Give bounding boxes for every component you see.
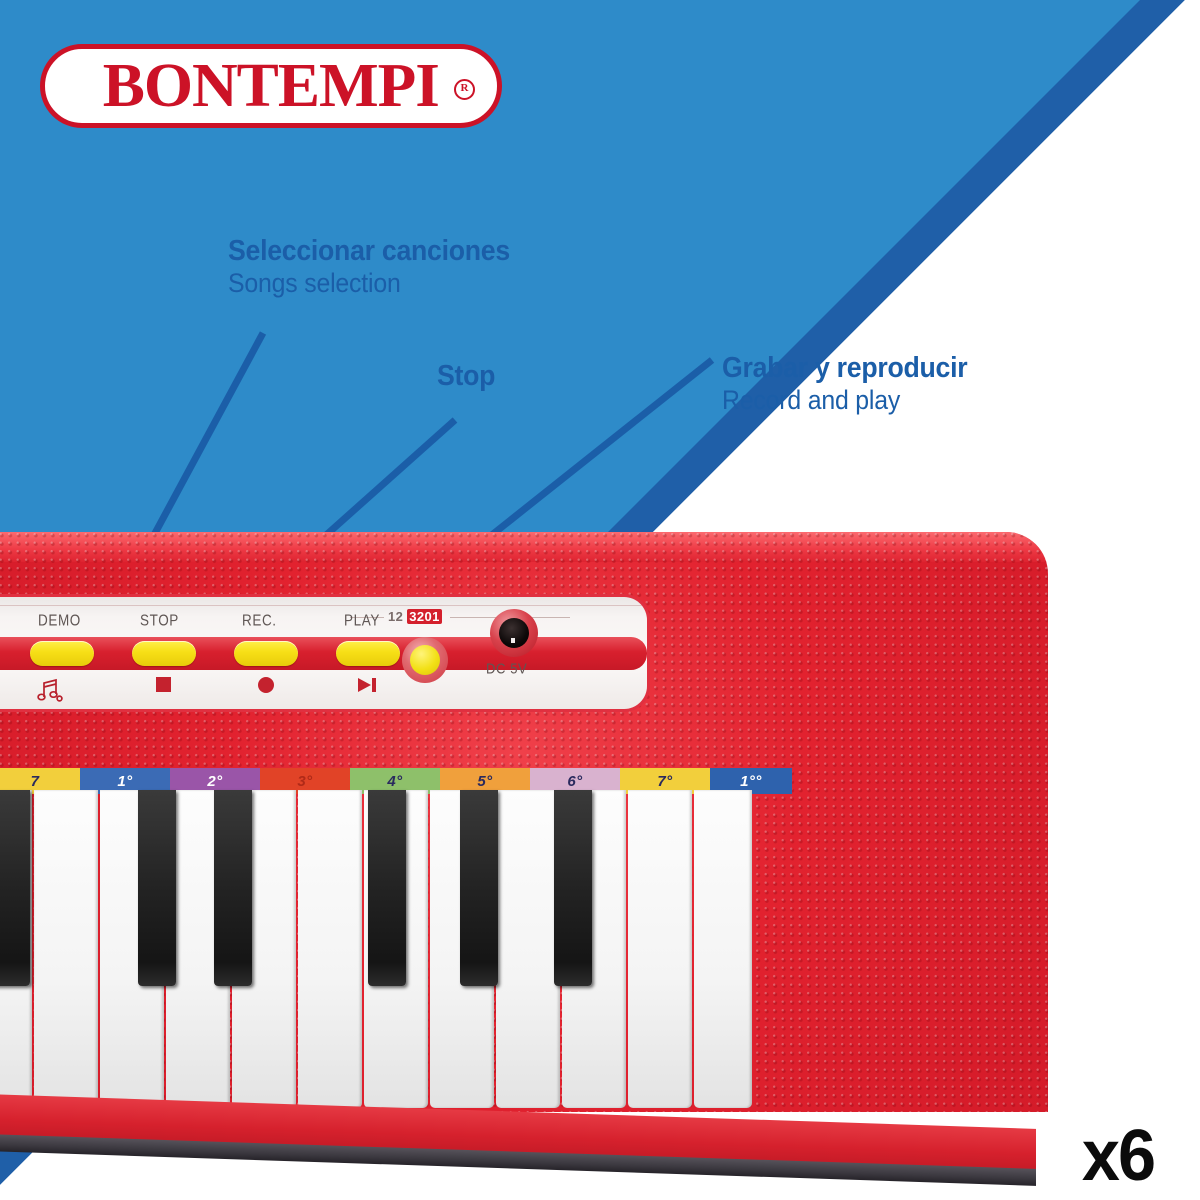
callout-stop: Stop bbox=[437, 360, 500, 392]
note-label-6o: 6° bbox=[567, 773, 582, 790]
model-highlight: 3201 bbox=[407, 609, 442, 624]
panel-hairline bbox=[0, 605, 647, 606]
logo-wordmark: BONTEMPI bbox=[103, 55, 439, 117]
dc-power-jack[interactable] bbox=[490, 609, 538, 657]
power-knob[interactable] bbox=[402, 637, 448, 683]
callout-songs-es: Seleccionar canciones bbox=[228, 235, 510, 267]
dc-power-label: DC 5V bbox=[486, 660, 527, 677]
music-note-icon bbox=[36, 677, 64, 703]
demo-button[interactable] bbox=[30, 641, 94, 666]
product-infographic: BONTEMPI R Seleccionar canciones Songs s… bbox=[0, 0, 1200, 1200]
piano-keys bbox=[0, 790, 752, 1112]
note-label-7: 7 bbox=[31, 773, 40, 790]
white-key[interactable] bbox=[298, 790, 362, 1108]
registered-trademark-icon: R bbox=[454, 79, 475, 100]
keyboard-body: 123201 DEMO STOP REC. bbox=[0, 532, 1048, 1112]
model-number: 123201 bbox=[388, 609, 442, 624]
dc-jack-hole-icon bbox=[499, 618, 529, 648]
black-key[interactable] bbox=[138, 790, 176, 986]
power-knob-cap bbox=[410, 645, 440, 675]
black-key[interactable] bbox=[0, 790, 30, 986]
note-label-1oo: 1°° bbox=[740, 773, 762, 790]
record-button[interactable] bbox=[234, 641, 298, 666]
play-button[interactable] bbox=[336, 641, 400, 666]
note-label-7o: 7° bbox=[657, 773, 672, 790]
callout-songs-selection: Seleccionar canciones Songs selection bbox=[228, 235, 534, 300]
panel-red-band bbox=[0, 637, 647, 670]
note-label-4o: 4° bbox=[387, 773, 402, 790]
model-prefix: 12 bbox=[388, 609, 403, 624]
callout-record-es: Grabar y reproducir bbox=[722, 352, 967, 384]
callout-songs-en: Songs selection bbox=[228, 267, 510, 299]
black-key[interactable] bbox=[214, 790, 252, 986]
white-key[interactable] bbox=[694, 790, 752, 1108]
quantity-badge-label: x6 bbox=[1082, 1120, 1154, 1192]
callout-record-en: Record and play bbox=[722, 384, 967, 416]
stop-square-icon bbox=[156, 677, 171, 692]
callout-stop-es: Stop bbox=[437, 360, 495, 392]
play-triangle-icon bbox=[358, 677, 380, 693]
control-label-stop: STOP bbox=[140, 612, 179, 629]
stop-button[interactable] bbox=[132, 641, 196, 666]
white-key[interactable] bbox=[34, 790, 98, 1108]
control-label-play: PLAY bbox=[344, 612, 380, 629]
white-key[interactable] bbox=[496, 790, 560, 1108]
callout-record-and-play: Grabar y reproducir Record and play bbox=[722, 352, 989, 417]
control-panel: 123201 DEMO STOP REC. bbox=[0, 594, 650, 712]
black-key[interactable] bbox=[460, 790, 498, 986]
note-label-1o: 1° bbox=[117, 773, 132, 790]
quantity-badge: x6 bbox=[1036, 1112, 1200, 1200]
black-key[interactable] bbox=[554, 790, 592, 986]
control-label-rec: REC. bbox=[242, 612, 277, 629]
control-label-demo: DEMO bbox=[38, 612, 81, 629]
keyboard-product-image: 123201 DEMO STOP REC. bbox=[0, 532, 1050, 1152]
record-circle-icon bbox=[258, 677, 274, 693]
black-key[interactable] bbox=[368, 790, 406, 986]
note-label-5o: 5° bbox=[477, 773, 492, 790]
white-key[interactable] bbox=[628, 790, 692, 1108]
note-label-3o: 3° bbox=[297, 773, 312, 790]
note-label-2o: 2° bbox=[207, 773, 222, 790]
bontempi-logo: BONTEMPI R bbox=[40, 44, 502, 128]
